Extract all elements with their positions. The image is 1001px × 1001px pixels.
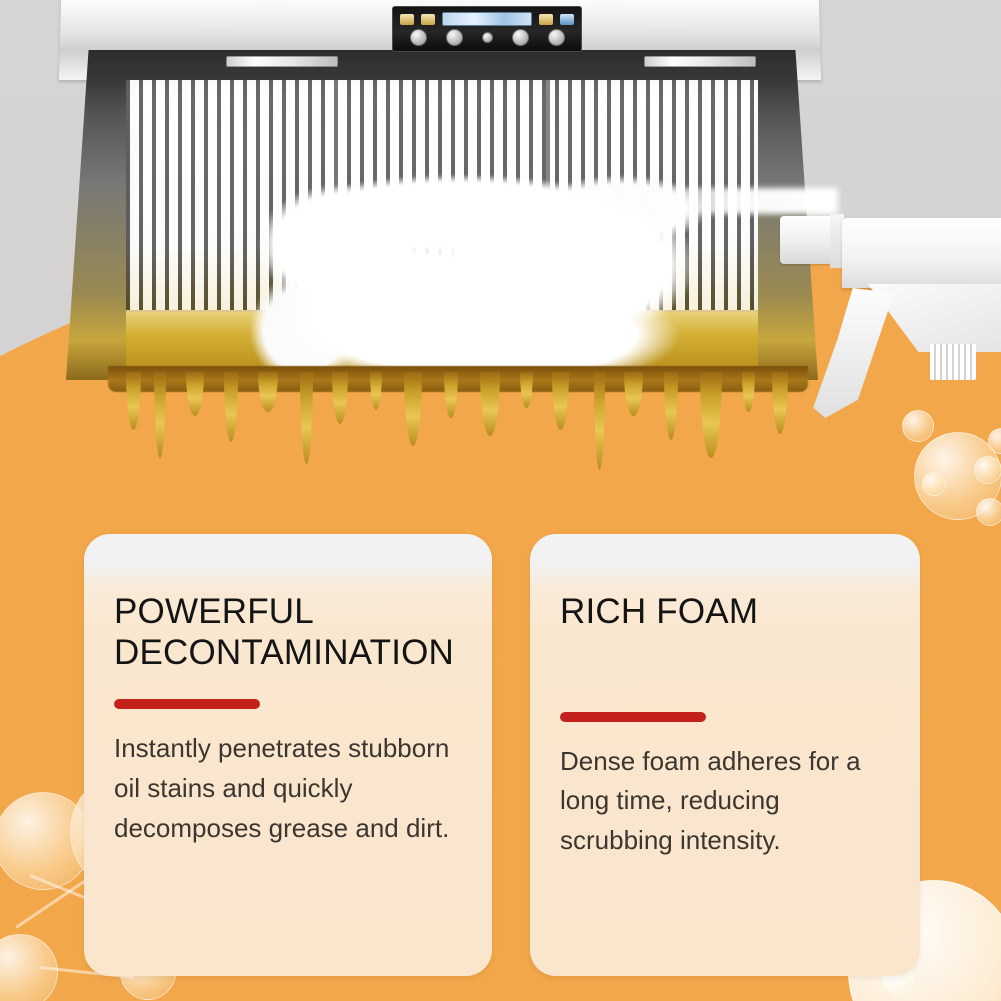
- feature-card-title: RICH FOAM: [560, 592, 886, 633]
- feature-card-powerful-decontamination[interactable]: POWERFUL DECONTAMINATION Instantly penet…: [84, 534, 492, 976]
- title-underline: [114, 699, 260, 709]
- feature-card-title: POWERFUL DECONTAMINATION: [114, 592, 458, 673]
- feature-card-body: Instantly penetrates stubborn oil stains…: [114, 729, 458, 848]
- feature-cards: POWERFUL DECONTAMINATION Instantly penet…: [0, 0, 1001, 1001]
- title-underline: [560, 712, 706, 722]
- feature-card-body: Dense foam adheres for a long time, redu…: [560, 742, 886, 861]
- product-feature-poster: POWERFUL DECONTAMINATION Instantly penet…: [0, 0, 1001, 1001]
- feature-card-rich-foam[interactable]: RICH FOAM Dense foam adheres for a long …: [530, 534, 920, 976]
